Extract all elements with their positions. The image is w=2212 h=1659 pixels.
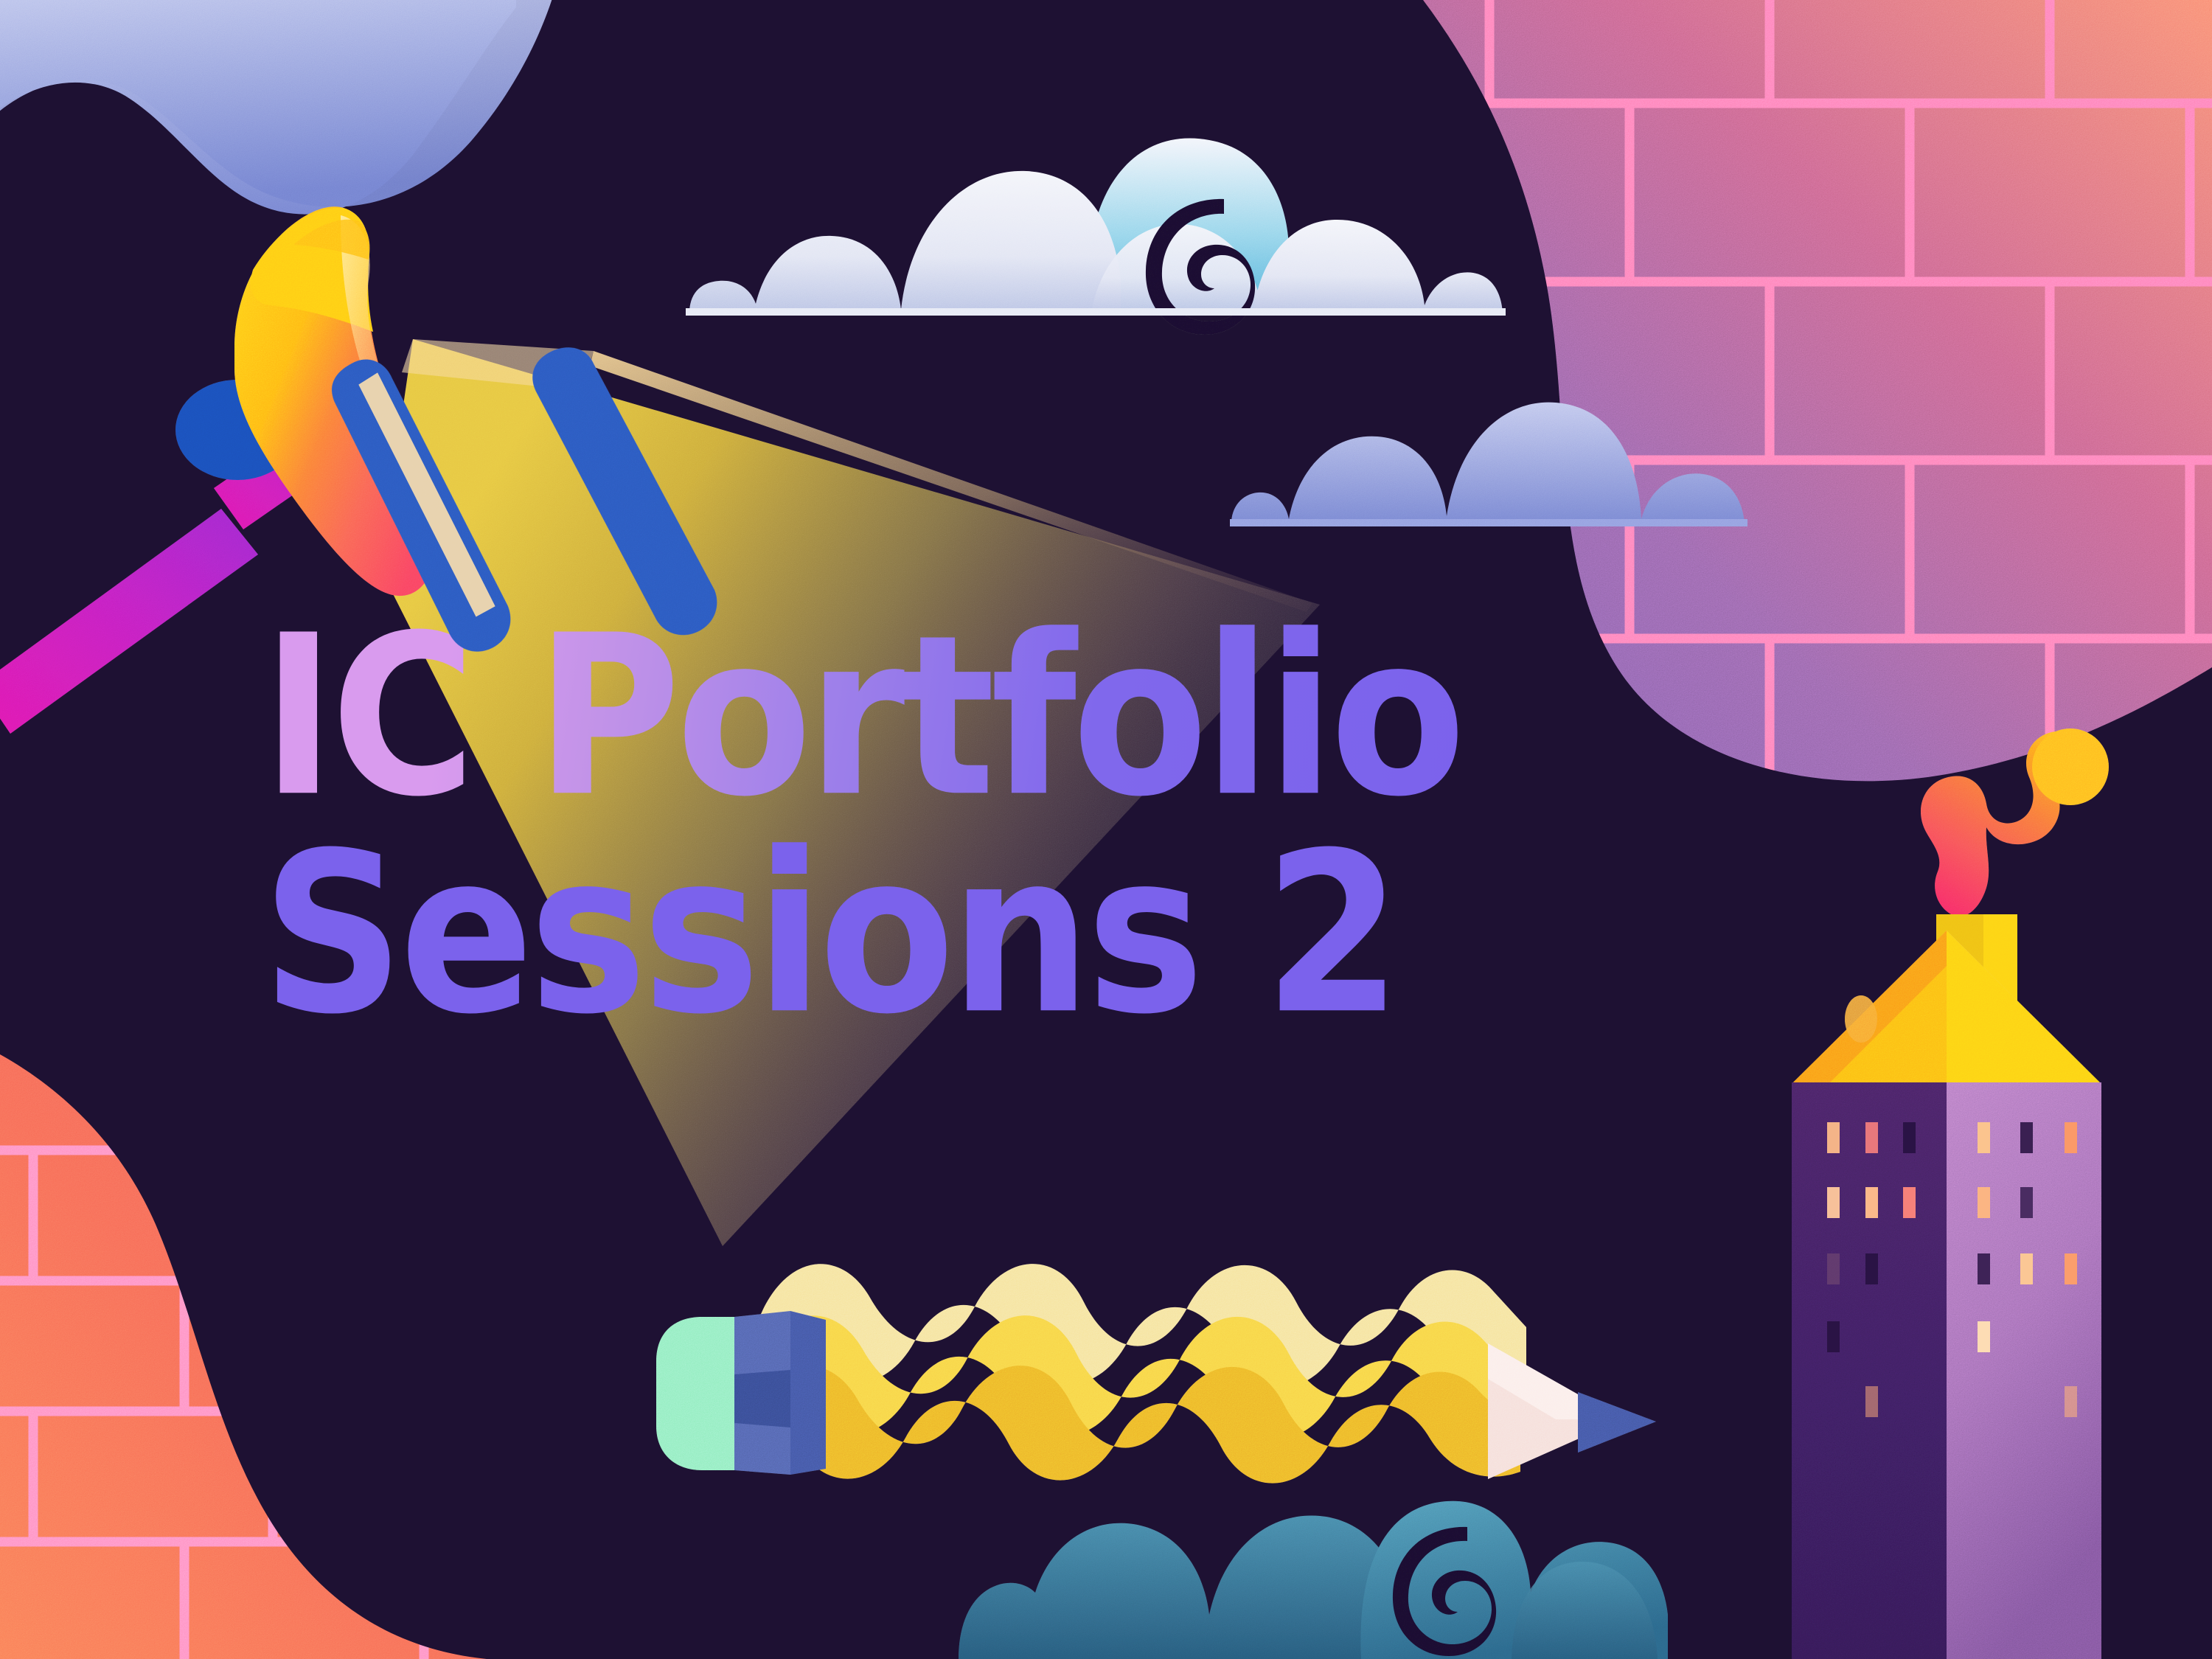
lamp-rim [528,329,722,653]
desk-lamp [0,0,2212,1659]
poster-canvas: IC Portfolio Sessions 2 [0,0,2212,1659]
